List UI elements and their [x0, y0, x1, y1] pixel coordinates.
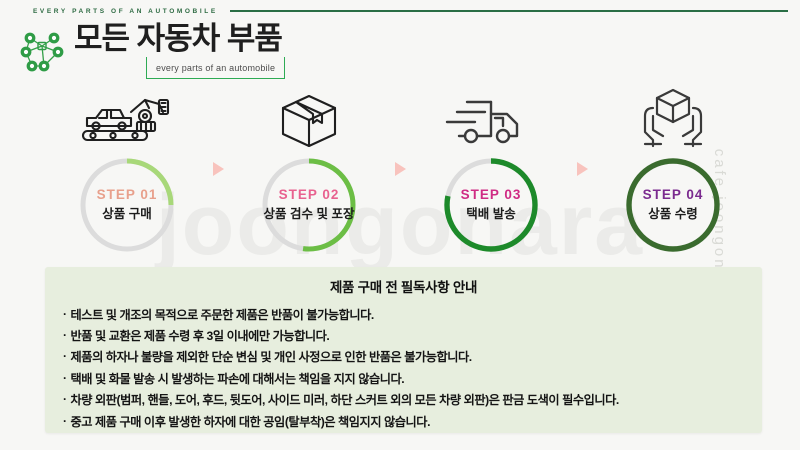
step-item-2: STEP 02 상품 검수 및 포장 — [229, 88, 389, 254]
bullet-glyph: · — [63, 307, 67, 323]
triangle-right-arrow-icon — [207, 88, 229, 258]
notice-list-item: · 택배 및 화물 발송 시 발생하는 파손에 대해서는 책임을 지지 않습니다… — [59, 368, 748, 389]
step-item-1: STEP 01 상품 구매 — [47, 88, 207, 254]
step-item-3: STEP 03 택배 발송 — [411, 88, 571, 254]
step-name-4: 상품 수령 — [648, 207, 697, 223]
bullet-glyph: · — [63, 392, 67, 408]
step-number-2: STEP 02 — [279, 187, 340, 204]
notice-list-item: · 테스트 및 개조의 목적으로 주문한 제품은 반품이 불가능합니다. — [59, 304, 748, 325]
brand-title: 모든 자동차 부품 — [74, 22, 285, 55]
delivery-truck-icon — [445, 88, 537, 150]
step-name-2: 상품 검수 및 포장 — [264, 207, 355, 223]
notice-item-text: 중고 제품 구매 이후 발생한 하자에 대한 공임(탈부착)은 책임지지 않습니… — [71, 414, 430, 430]
bullet-glyph: · — [63, 414, 67, 430]
step-name-3: 택배 발송 — [466, 207, 515, 223]
step-number-1: STEP 01 — [97, 187, 158, 204]
bullet-glyph: · — [63, 371, 67, 387]
step-progress-ring-1: STEP 01 상품 구매 — [78, 156, 176, 254]
step-item-4: STEP 04 상품 수령 — [593, 88, 753, 254]
notice-item-text: 반품 및 교환은 제품 수령 후 3일 이내에만 가능합니다. — [71, 328, 330, 344]
network-nodes-icon — [16, 26, 68, 78]
notice-item-text: 테스트 및 개조의 목적으로 주문한 제품은 반품이 불가능합니다. — [71, 307, 374, 323]
notice-list-item: · 제품의 하자나 불량을 제외한 단순 변심 및 개인 사정으로 인한 반품은… — [59, 347, 748, 368]
brand-tagline: every parts of an automobile — [156, 63, 275, 73]
car-assembly-robot-icon — [79, 88, 175, 150]
step-number-3: STEP 03 — [461, 187, 522, 204]
triangle-right-arrow-icon — [571, 88, 593, 258]
notice-item-text: 제품의 하자나 불량을 제외한 단순 변심 및 개인 사정으로 인한 반품은 불… — [71, 349, 472, 365]
step-name-1: 상품 구매 — [102, 207, 151, 223]
eyebrow-label: EVERY PARTS OF AN AUTOMOBILE — [33, 8, 218, 15]
notice-list-item: · 중고 제품 구매 이후 발생한 하자에 대한 공임(탈부착)은 책임지지 않… — [59, 411, 748, 432]
notice-list-item: · 차량 외판(범퍼, 핸들, 도어, 후드, 뒷도어, 사이드 미러, 하단 … — [59, 390, 748, 411]
hands-holding-box-icon — [631, 88, 715, 150]
eyebrow-divider — [230, 10, 788, 12]
bullet-glyph: · — [63, 328, 67, 344]
brand-tagline-box: every parts of an automobile — [146, 57, 285, 79]
cardboard-box-icon — [269, 88, 349, 150]
notice-item-text: 차량 외판(범퍼, 핸들, 도어, 후드, 뒷도어, 사이드 미러, 하단 스커… — [71, 392, 619, 408]
step-progress-ring-4: STEP 04 상품 수령 — [624, 156, 722, 254]
notice-panel: 제품 구매 전 필독사항 안내 · 테스트 및 개조의 목적으로 주문한 제품은… — [45, 267, 762, 433]
step-progress-ring-3: STEP 03 택배 발송 — [442, 156, 540, 254]
notice-list-item: · 반품 및 교환은 제품 수령 후 3일 이내에만 가능합니다. — [59, 325, 748, 346]
step-number-4: STEP 04 — [643, 187, 704, 204]
brand-header: 모든 자동차 부품 every parts of an automobile — [16, 22, 285, 79]
notice-item-text: 택배 및 화물 발송 시 발생하는 파손에 대해서는 책임을 지지 않습니다. — [71, 371, 405, 387]
notice-title: 제품 구매 전 필독사항 안내 — [59, 276, 748, 296]
step-progress-ring-2: STEP 02 상품 검수 및 포장 — [260, 156, 358, 254]
bullet-glyph: · — [63, 349, 67, 365]
step-flow: STEP 01 상품 구매 STEP 0 — [0, 88, 800, 258]
eyebrow-strip: EVERY PARTS OF AN AUTOMOBILE — [0, 0, 800, 22]
triangle-right-arrow-icon — [389, 88, 411, 258]
